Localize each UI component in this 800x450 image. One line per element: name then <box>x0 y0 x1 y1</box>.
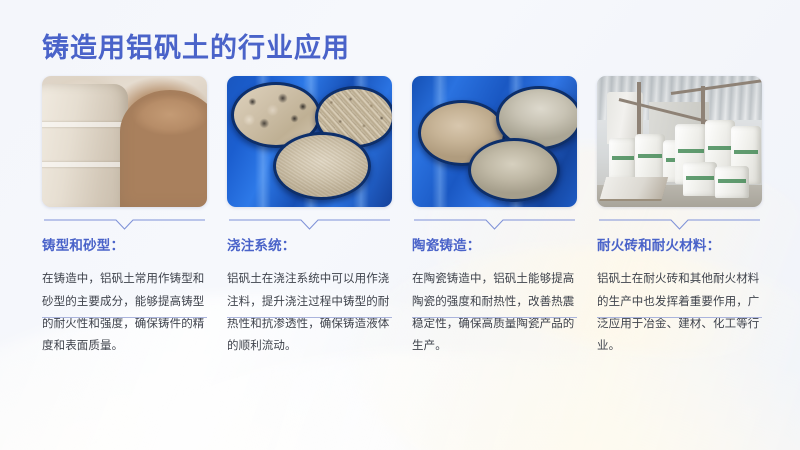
photo-powder-bowls <box>412 76 577 207</box>
photo-warehouse-bags-image <box>597 76 762 207</box>
slide-canvas: 铸造用铝矾土的行业应用 铸型和砂型： 在铸造中，铝矾土常用作铸型和砂型的主要成分… <box>0 0 800 450</box>
divider-with-chevron <box>412 216 577 232</box>
card-casting-mold: 铸型和砂型： 在铸造中，铝矾土常用作铸型和砂型的主要成分，能够提高铸型的耐火性和… <box>42 76 207 358</box>
card-body: 铝矾土在浇注系统中可以用作浇注料，提升浇注过程中铸型的耐热性和抗渗透性，确保铸造… <box>227 268 392 358</box>
bag-strap <box>42 162 132 167</box>
divider-with-chevron <box>227 216 392 232</box>
card-refractory-materials: 耐火砖和耐火材料： 铝矾土在耐火砖和其他耐火材料的生产中也发挥着重要作用，广泛应… <box>597 76 762 358</box>
bulk-bag <box>683 162 717 196</box>
card-gating-system: 浇注系统： 铝矾土在浇注系统中可以用作浇注料，提升浇注过程中铸型的耐热性和抗渗透… <box>227 76 392 358</box>
warehouse-pallet <box>600 177 668 199</box>
card-body: 在铸造中，铝矾土常用作铸型和砂型的主要成分，能够提高铸型的耐火性和强度，确保铸件… <box>42 268 207 358</box>
warehouse-column <box>637 82 641 138</box>
card-heading: 耐火砖和耐火材料： <box>597 238 762 254</box>
photo-powder-bowls-image <box>412 76 577 207</box>
card-ceramic-casting: 陶瓷铸造： 在陶瓷铸造中，铝矾土能够提高陶瓷的强度和耐热性，改善热震稳定性，确保… <box>412 76 577 358</box>
card-bottom-rule <box>597 317 762 318</box>
divider-with-chevron <box>42 216 207 232</box>
photo-aggregate-bowls-image <box>227 76 392 207</box>
page-title: 铸造用铝矾土的行业应用 <box>42 26 350 65</box>
card-bottom-rule <box>227 317 392 318</box>
card-heading: 铸型和砂型： <box>42 238 207 254</box>
bag-label-tag <box>146 168 172 192</box>
card-bottom-rule <box>412 317 577 318</box>
bag-strap <box>134 176 207 181</box>
bowl-sand <box>273 132 371 200</box>
card-heading: 陶瓷铸造： <box>412 238 577 254</box>
card-body: 在陶瓷铸造中，铝矾土能够提高陶瓷的强度和耐热性，改善热震稳定性，确保高质量陶瓷产… <box>412 268 577 358</box>
photo-bulk-bags <box>42 76 207 207</box>
bulk-bag <box>635 134 665 182</box>
photo-warehouse-bags <box>597 76 762 207</box>
bowl-powder-gray-second <box>468 138 560 202</box>
bulk-bag <box>609 138 637 180</box>
photo-aggregate-bowls <box>227 76 392 207</box>
card-bottom-rule <box>42 317 207 318</box>
divider-with-chevron <box>597 216 762 232</box>
card-heading: 浇注系统： <box>227 238 392 254</box>
bag-strap <box>126 136 207 141</box>
bulk-bag <box>715 166 749 198</box>
bag-strap <box>42 122 132 127</box>
card-body: 铝矾土在耐火砖和其他耐火材料的生产中也发挥着重要作用，广泛应用于冶金、建材、化工… <box>597 268 762 358</box>
photo-bulk-bags-image <box>42 76 207 207</box>
